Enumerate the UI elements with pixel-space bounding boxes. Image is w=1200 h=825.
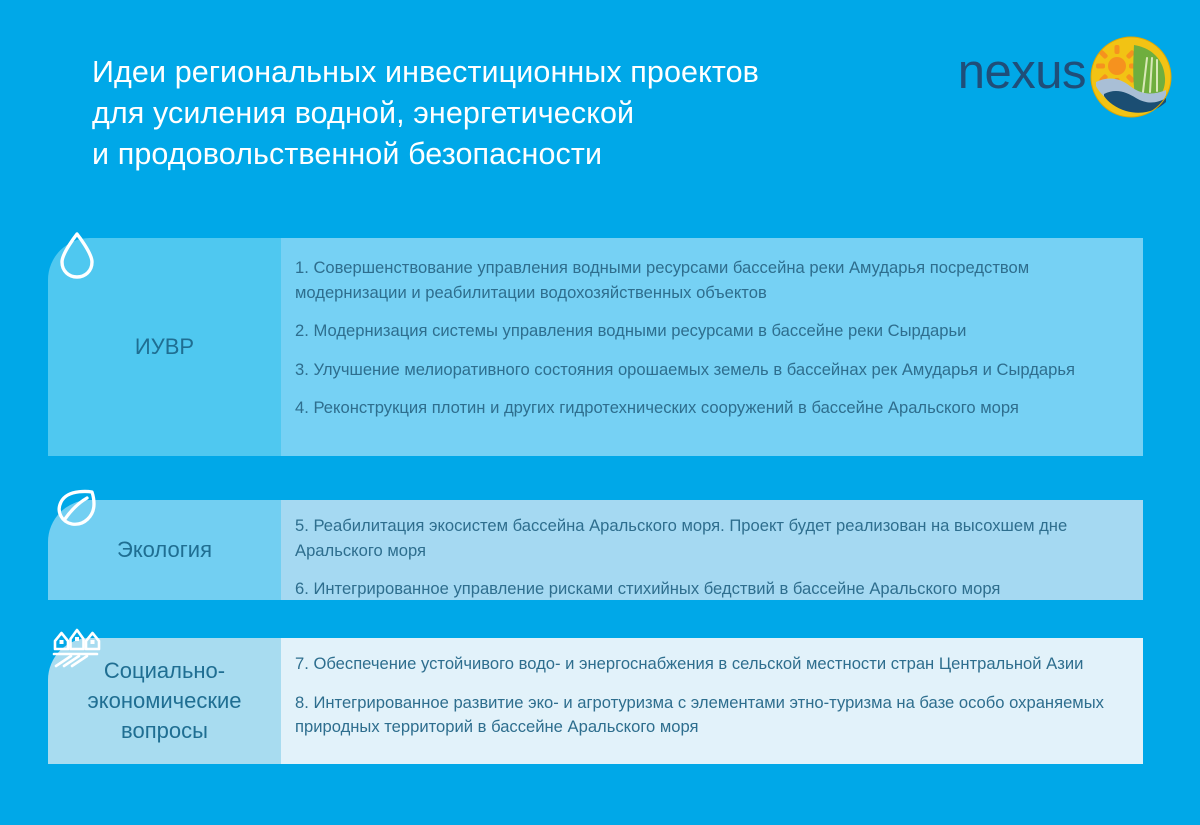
list-item: 5. Реабилитация экосистем бассейна Араль… [295, 514, 1125, 563]
header: Идеи региональных инвестиционных проекто… [0, 0, 1200, 210]
section-label-text: Экология [117, 535, 212, 565]
village-houses-icon [48, 618, 106, 676]
section-items-social: 7. Обеспечение устойчивого водо- и энерг… [281, 638, 1143, 764]
page-title: Идеи региональных инвестиционных проекто… [92, 52, 912, 175]
list-item: 2. Модернизация системы управления водны… [295, 319, 1125, 344]
logo-wordmark: nexus [958, 44, 1086, 100]
list-item: 8. Интегрированное развитие эко- и агрот… [295, 691, 1125, 740]
section-label-text: ИУВР [135, 332, 194, 362]
water-drop-icon [48, 226, 106, 284]
list-item: 3. Улучшение мелиоративного состояния ор… [295, 358, 1125, 383]
list-item: 1. Совершенствование управления водными … [295, 256, 1125, 305]
section-items-ecology: 5. Реабилитация экосистем бассейна Араль… [281, 500, 1143, 600]
nexus-logo: nexus [924, 34, 1172, 122]
list-item: 6. Интегрированное управление рисками ст… [295, 577, 1125, 602]
list-item: 4. Реконструкция плотин и других гидроте… [295, 396, 1125, 421]
list-item: 7. Обеспечение устойчивого водо- и энерг… [295, 652, 1125, 677]
section-items-iuvr: 1. Совершенствование управления водными … [281, 238, 1143, 456]
leaf-icon [48, 480, 106, 538]
section-label-text: Социально- экономические вопросы [88, 656, 242, 746]
nexus-emblem-icon [1090, 36, 1172, 118]
